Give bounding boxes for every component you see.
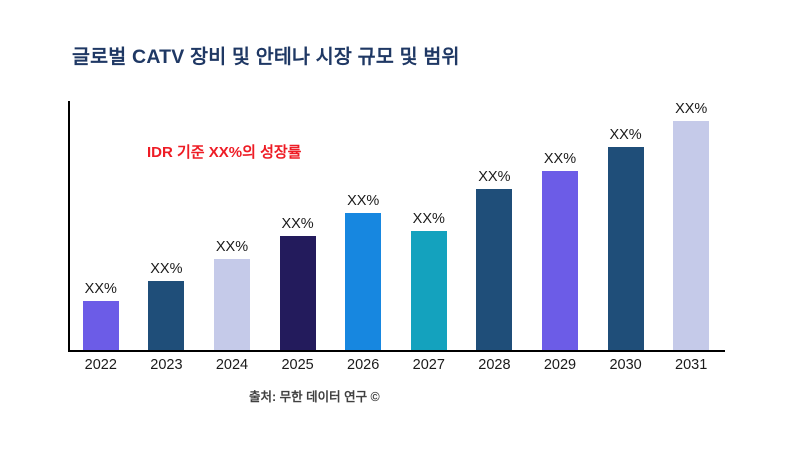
x-tick-2028: 2028 [462, 357, 526, 373]
x-tick-2027: 2027 [397, 357, 461, 373]
bar-group: XX% [83, 101, 119, 350]
bar-2026[interactable] [345, 213, 381, 350]
bar-group: XX% [411, 101, 447, 350]
bar-value-label: XX% [476, 169, 512, 185]
bar-2023[interactable] [148, 281, 184, 350]
bar-group: XX% [345, 101, 381, 350]
bar-2028[interactable] [476, 189, 512, 350]
bar-2027[interactable] [411, 231, 447, 350]
bar-value-label: XX% [608, 127, 644, 143]
x-tick-2024: 2024 [200, 357, 264, 373]
bar-group: XX% [148, 101, 184, 350]
x-tick-2030: 2030 [594, 357, 658, 373]
bar-value-label: XX% [345, 193, 381, 209]
bar-2030[interactable] [608, 147, 644, 350]
growth-rate-annotation: IDR 기준 XX%의 성장률 [147, 141, 301, 162]
x-tick-2031: 2031 [659, 357, 723, 373]
bar-value-label: XX% [214, 239, 250, 255]
bar-group: XX% [608, 101, 644, 350]
bar-group: XX% [476, 101, 512, 350]
page-title: 글로벌 CATV 장비 및 안테나 시장 규모 및 범위 [72, 40, 460, 69]
bar-value-label: XX% [148, 261, 184, 277]
bar-2025[interactable] [280, 236, 316, 350]
bar-value-label: XX% [542, 151, 578, 167]
x-tick-2022: 2022 [69, 357, 133, 373]
bar-2024[interactable] [214, 259, 250, 350]
bar-group: XX% [673, 101, 709, 350]
bar-2029[interactable] [542, 171, 578, 350]
bar-group: XX% [542, 101, 578, 350]
bar-value-label: XX% [83, 281, 119, 297]
plot-area: XX%XX%XX%XX%XX%XX%XX%XX%XX%XX% [68, 101, 724, 350]
x-tick-2023: 2023 [134, 357, 198, 373]
chart-container: 글로벌 CATV 장비 및 안테나 시장 규모 및 범위 미화 백만 달러 XX… [0, 0, 800, 450]
x-axis-line [68, 350, 725, 352]
bar-group: XX% [280, 101, 316, 350]
bar-2031[interactable] [673, 121, 709, 350]
x-tick-2029: 2029 [528, 357, 592, 373]
bar-2022[interactable] [83, 301, 119, 350]
bar-value-label: XX% [280, 216, 316, 232]
bar-group: XX% [214, 101, 250, 350]
bar-value-label: XX% [411, 211, 447, 227]
source-note: 출처: 무한 데이터 연구 © [249, 386, 380, 405]
x-tick-2025: 2025 [266, 357, 330, 373]
x-tick-2026: 2026 [331, 357, 395, 373]
bar-value-label: XX% [673, 101, 709, 117]
